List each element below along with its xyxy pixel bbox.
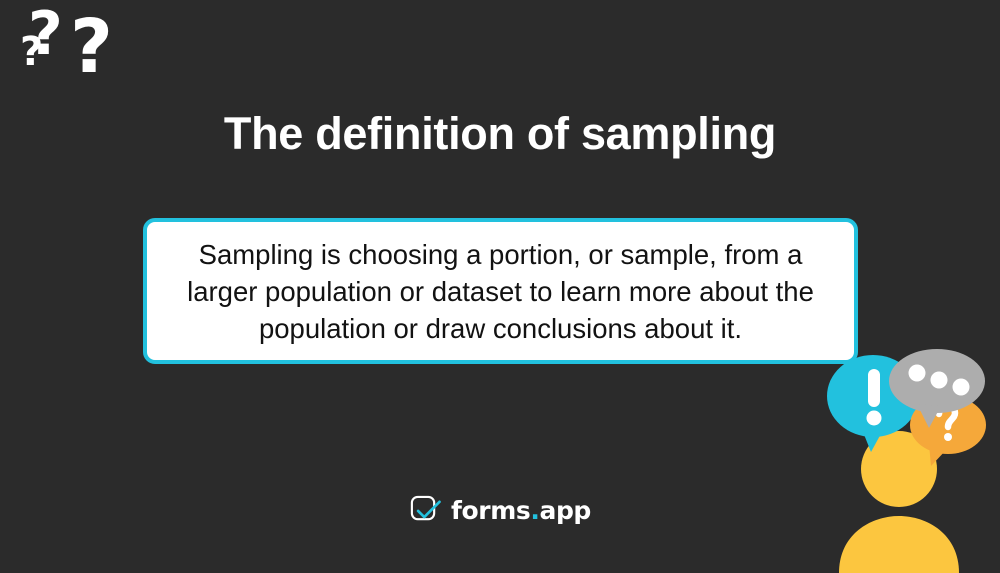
forms-app-check-icon — [409, 494, 442, 527]
question-mark-icon-small: ? — [20, 32, 43, 72]
logo-name-last: app — [539, 496, 590, 525]
dots-bubble-dot-1 — [909, 365, 926, 382]
logo-name-first: forms — [451, 496, 530, 525]
dots-bubble — [889, 349, 985, 413]
logo-wordmark: forms.app — [451, 496, 591, 525]
speech-bubbles-person-illustration — [825, 348, 1000, 573]
exclamation-icon-bar — [868, 369, 880, 407]
question-icon-hook — [939, 407, 955, 427]
question-mark-icon-large: ? — [70, 10, 113, 84]
exclamation-icon-dot — [867, 411, 882, 426]
dots-bubble-dot-3 — [953, 379, 970, 396]
question-mark-icon-medium: ? — [28, 4, 63, 64]
slide-canvas: ? ? ? The definition of sampling Samplin… — [0, 0, 1000, 573]
question-bubble-tail — [929, 444, 947, 466]
definition-text: Sampling is choosing a portion, or sampl… — [169, 236, 832, 347]
decorative-question-marks: ? ? ? — [8, 2, 138, 112]
exclamation-bubble — [827, 355, 919, 437]
exclamation-bubble-tail — [863, 430, 883, 452]
question-bubble — [910, 396, 986, 454]
page-title: The definition of sampling — [0, 108, 1000, 160]
forms-app-logo[interactable]: forms.app — [0, 494, 1000, 527]
dots-bubble-dot-2 — [931, 372, 948, 389]
question-icon-dot — [944, 433, 952, 441]
definition-card: Sampling is choosing a portion, or sampl… — [143, 218, 858, 364]
dots-bubble-tail — [917, 404, 941, 428]
